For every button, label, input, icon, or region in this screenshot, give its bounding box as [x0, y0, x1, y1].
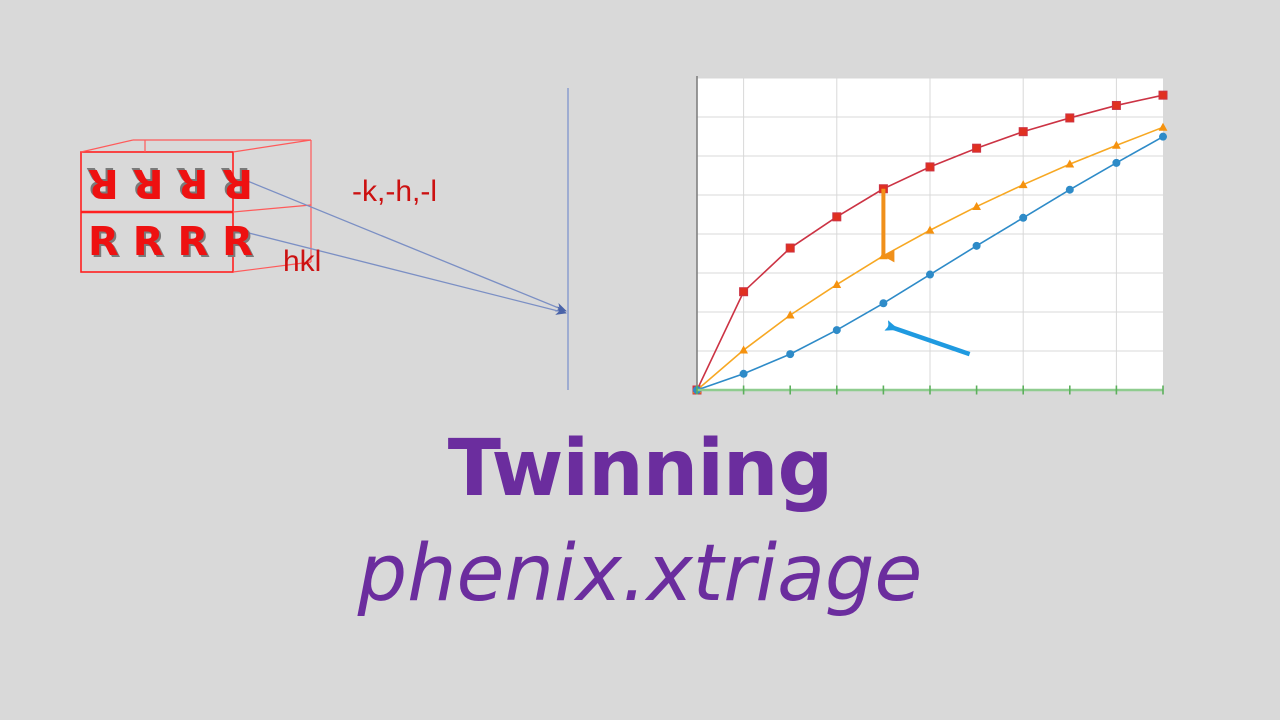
marker-perfect-twin [926, 163, 934, 171]
marker-partial-twin [739, 345, 748, 353]
marker-untwinned [740, 370, 748, 378]
cumulative-intensity-chart [690, 70, 1170, 400]
page-subtitle: phenix.xtriage [0, 535, 1280, 613]
marker-perfect-twin [973, 144, 981, 152]
marker-perfect-twin [1112, 101, 1120, 109]
marker-partial-twin [832, 280, 841, 288]
twin-operator-label: -k,-h,-l [352, 175, 437, 209]
marker-untwinned [973, 242, 981, 250]
marker-perfect-twin [1066, 114, 1074, 122]
chart-svg [690, 70, 1170, 400]
marker-partial-twin [926, 226, 935, 234]
marker-perfect-twin [740, 288, 748, 296]
twin-lattice-diagram: R R R R R R R R -k,-h,-l hkl [0, 0, 620, 420]
blue-left-arrow [888, 326, 970, 354]
lattice-letters-top: R R R R [88, 163, 253, 203]
marker-untwinned [1066, 186, 1074, 194]
hkl-label: hkl [283, 245, 321, 279]
marker-untwinned [879, 299, 887, 307]
marker-untwinned [1159, 133, 1167, 141]
chart-gridlines [697, 78, 1163, 390]
marker-untwinned [833, 326, 841, 334]
chart-annotations [883, 189, 969, 354]
marker-untwinned [786, 350, 794, 358]
marker-untwinned [1019, 214, 1027, 222]
marker-partial-twin [1159, 123, 1168, 131]
marker-perfect-twin [1019, 128, 1027, 136]
marker-perfect-twin [786, 244, 794, 252]
page-title: Twinning [0, 430, 1280, 508]
marker-perfect-twin [833, 213, 841, 221]
marker-perfect-twin [1159, 91, 1167, 99]
lattice-box-svg [0, 0, 620, 420]
marker-untwinned [926, 271, 934, 279]
slide-canvas: R R R R R R R R -k,-h,-l hkl Twinning ph [0, 0, 1280, 720]
marker-untwinned [1112, 159, 1120, 167]
lattice-letters-bottom: R R R R [88, 222, 253, 262]
